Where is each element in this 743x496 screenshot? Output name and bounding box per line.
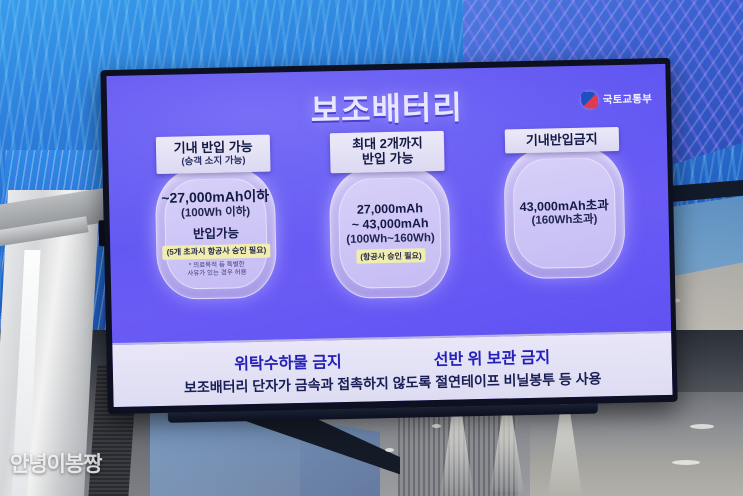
panel-allowed: 기내 반입 가능 (승객 소지 가능) ~27,000mAh이하 (100Wh … bbox=[127, 134, 302, 298]
ministry-logo: 국토교통부 bbox=[581, 90, 653, 109]
battery-inner-face: 43,000mAh초과 (160Wh초과) bbox=[512, 157, 616, 269]
panel-prohibited-tag: 기내반입금지 bbox=[505, 127, 620, 154]
tag-sub-label: (승객 소지 가능) bbox=[165, 155, 261, 168]
capacity-wh: (100Wh~160Wh) bbox=[346, 232, 435, 248]
battery-body: 27,000mAh ~ 43,000mAh (100Wh~160Wh) (항공사… bbox=[329, 166, 452, 299]
panel-prohibited: 기내반입금지 43,000mAh초과 (160Wh초과) bbox=[476, 126, 651, 278]
capacity-value: 43,000mAh초과 bbox=[520, 198, 609, 215]
battery-body: 43,000mAh초과 (160Wh초과) bbox=[503, 147, 626, 280]
banner-no-checked-baggage: 위탁수하물 금지 bbox=[234, 348, 342, 374]
status-note: 반입가능 bbox=[193, 222, 239, 242]
footnote-line-2: 사유가 있는 경우 허용 bbox=[187, 269, 246, 278]
capacity-value-low: 27,000mAh bbox=[357, 201, 423, 217]
banner-no-overhead-storage: 선반 위 보관 금지 bbox=[433, 344, 550, 371]
panel-allowed-tag: 기내 반입 가능 (승객 소지 가능) bbox=[156, 135, 271, 174]
capacity-wh: (160Wh초과) bbox=[531, 214, 597, 229]
battery-graphic-allowed: ~27,000mAh이하 (100Wh 이하) 반입가능 (5개 초과시 항공사… bbox=[155, 167, 276, 298]
information-display[interactable]: 보조배터리 국토교통부 기내 반입 가능 (승객 소지 가능) bbox=[100, 58, 677, 414]
ceiling-light-dot bbox=[672, 460, 700, 465]
approval-highlight: (항공사 승인 필요) bbox=[356, 249, 426, 265]
battery-graphic-limited: 27,000mAh ~ 43,000mAh (100Wh~160Wh) (항공사… bbox=[329, 166, 450, 297]
display-screen: 보조배터리 국토교통부 기내 반입 가능 (승객 소지 가능) bbox=[106, 64, 672, 407]
battery-category-row: 기내 반입 가능 (승객 소지 가능) ~27,000mAh이하 (100Wh … bbox=[108, 126, 671, 328]
tag-main-label: 최대 2개까지 bbox=[339, 135, 435, 152]
taegeuk-icon bbox=[581, 91, 598, 108]
tag-main-label: 기내 반입 가능 bbox=[165, 139, 261, 156]
tag-main-label: 기내반입금지 bbox=[514, 131, 610, 148]
photo-watermark: 안녕이봉짱 bbox=[10, 448, 102, 478]
approval-highlight: (5개 초과시 항공사 승인 필요) bbox=[163, 243, 271, 259]
panel-limited: 최대 2개까지 반입 가능 27,000mAh ~ 43,000mAh (100… bbox=[301, 130, 477, 297]
ceiling-light-dot bbox=[432, 424, 441, 428]
display-side-button[interactable] bbox=[99, 220, 106, 246]
capacity-value: ~27,000mAh이하 bbox=[161, 188, 269, 207]
battery-body: ~27,000mAh이하 (100Wh 이하) 반입가능 (5개 초과시 항공사… bbox=[155, 167, 278, 300]
battery-inner-face: ~27,000mAh이하 (100Wh 이하) 반입가능 (5개 초과시 항공사… bbox=[164, 177, 268, 289]
capacity-value-high: ~ 43,000mAh bbox=[352, 216, 429, 232]
ministry-name: 국토교통부 bbox=[603, 91, 653, 107]
capacity-wh: (100Wh 이하) bbox=[181, 206, 250, 221]
ceiling-light-dot bbox=[385, 448, 394, 452]
panel-limited-tag: 최대 2개까지 반입 가능 bbox=[330, 131, 445, 173]
warning-banner: 위탁수하물 금지 선반 위 보관 금지 보조배터리 단자가 금속과 접촉하지 않… bbox=[112, 331, 672, 407]
battery-graphic-prohibited: 43,000mAh초과 (160Wh초과) bbox=[503, 147, 624, 278]
photo-scene: 보조배터리 국토교통부 기내 반입 가능 (승객 소지 가능) bbox=[0, 0, 743, 496]
ceiling-light-dot bbox=[690, 424, 714, 429]
tag-main-label-2: 반입 가능 bbox=[340, 150, 436, 167]
battery-inner-face: 27,000mAh ~ 43,000mAh (100Wh~160Wh) (항공사… bbox=[338, 177, 442, 289]
